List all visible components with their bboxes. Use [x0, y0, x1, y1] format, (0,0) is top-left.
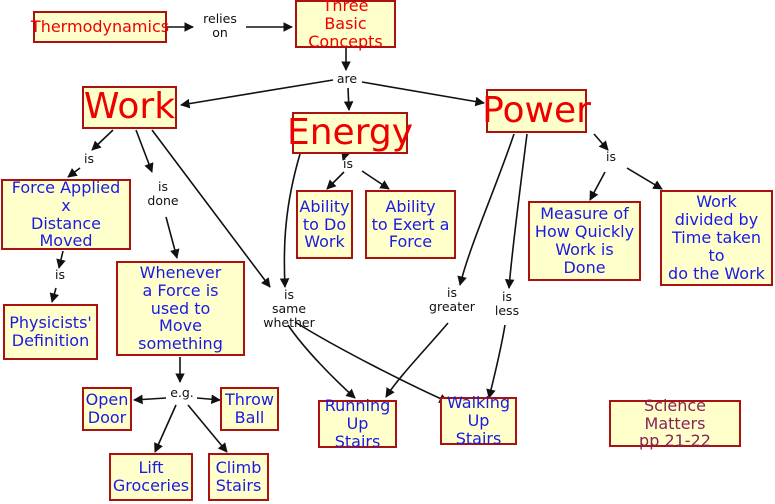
link-label-relies-on: relies on	[197, 12, 243, 40]
node-running-up-stairs[interactable]: Running Up Stairs	[318, 400, 397, 448]
node-measure-how-quickly[interactable]: Measure of How Quickly Work is Done	[528, 201, 641, 281]
node-climb-stairs[interactable]: Climb Stairs	[208, 453, 269, 501]
edge-work-to-is	[92, 130, 113, 150]
link-label-is-same-whether: is same whether	[262, 288, 316, 329]
edge-are-to-work	[181, 80, 333, 105]
node-science-matters-reference[interactable]: Science Matters pp 21-22	[609, 400, 741, 447]
edge-isgreater-to-running	[386, 323, 448, 397]
link-label-eg: e.g.	[166, 386, 198, 400]
link-label-is-done: is done	[142, 180, 184, 208]
edge-issamewhether-to-running	[288, 325, 355, 398]
edge-eg-to-throwball	[197, 398, 220, 400]
node-energy[interactable]: Energy	[292, 112, 408, 154]
edge-power-to-isgreater	[460, 134, 514, 285]
node-ability-do-work[interactable]: Ability to Do Work	[296, 190, 353, 259]
node-open-door[interactable]: Open Door	[82, 387, 132, 431]
edge-forceapplied-to-is	[59, 251, 63, 268]
node-lift-groceries[interactable]: Lift Groceries	[109, 453, 193, 501]
edge-work-to-isdone	[136, 130, 152, 172]
link-label-energy-is: is	[338, 157, 358, 171]
node-work-divided-by-time[interactable]: Work divided by Time taken to do the Wor…	[660, 190, 773, 286]
node-three-basic-concepts[interactable]: Three Basic Concepts	[295, 0, 396, 48]
link-label-are: are	[333, 72, 361, 86]
link-label-is-greater: is greater	[427, 286, 477, 314]
edge-power-to-isless	[509, 134, 527, 288]
edge-isdone-to-whenever	[166, 217, 177, 258]
edge-are-to-power	[362, 82, 484, 103]
node-power[interactable]: Power	[486, 89, 587, 133]
edge-are-to-energy	[348, 88, 349, 110]
concept-map-canvas: Thermodynamics Three Basic Concepts Work…	[0, 0, 775, 504]
edge-is-to-physicists	[52, 288, 56, 302]
node-physicists-definition[interactable]: Physicists' Definition	[3, 304, 98, 360]
node-force-applied[interactable]: Force Applied x Distance Moved	[1, 179, 131, 250]
link-label-work-is: is	[79, 152, 99, 166]
edge-is-to-abilitydowork	[327, 172, 344, 189]
edge-is-to-workdivided	[627, 168, 662, 189]
edge-is-to-force-applied	[68, 168, 80, 177]
link-label-is-less: is less	[489, 290, 525, 318]
edge-is-to-measure	[590, 172, 605, 200]
edge-power-to-is	[594, 134, 608, 150]
edge-eg-to-liftgroceries	[155, 405, 176, 452]
link-label-force-applied-is: is	[50, 268, 70, 282]
node-thermodynamics[interactable]: Thermodynamics	[33, 11, 167, 43]
node-throw-ball[interactable]: Throw Ball	[220, 387, 279, 431]
node-whenever-force[interactable]: Whenever a Force is used to Move somethi…	[116, 261, 245, 356]
link-label-power-is: is	[601, 150, 621, 164]
edge-issamewhether-to-walking	[295, 322, 448, 402]
node-walking-up-stairs[interactable]: Walking Up Stairs	[440, 397, 517, 445]
edge-is-to-abilityexert	[362, 171, 389, 189]
edge-isless-to-walking	[489, 325, 505, 398]
edge-eg-to-opendoor	[134, 398, 166, 400]
node-work[interactable]: Work	[82, 86, 177, 129]
node-ability-exert-force[interactable]: Ability to Exert a Force	[365, 190, 456, 259]
